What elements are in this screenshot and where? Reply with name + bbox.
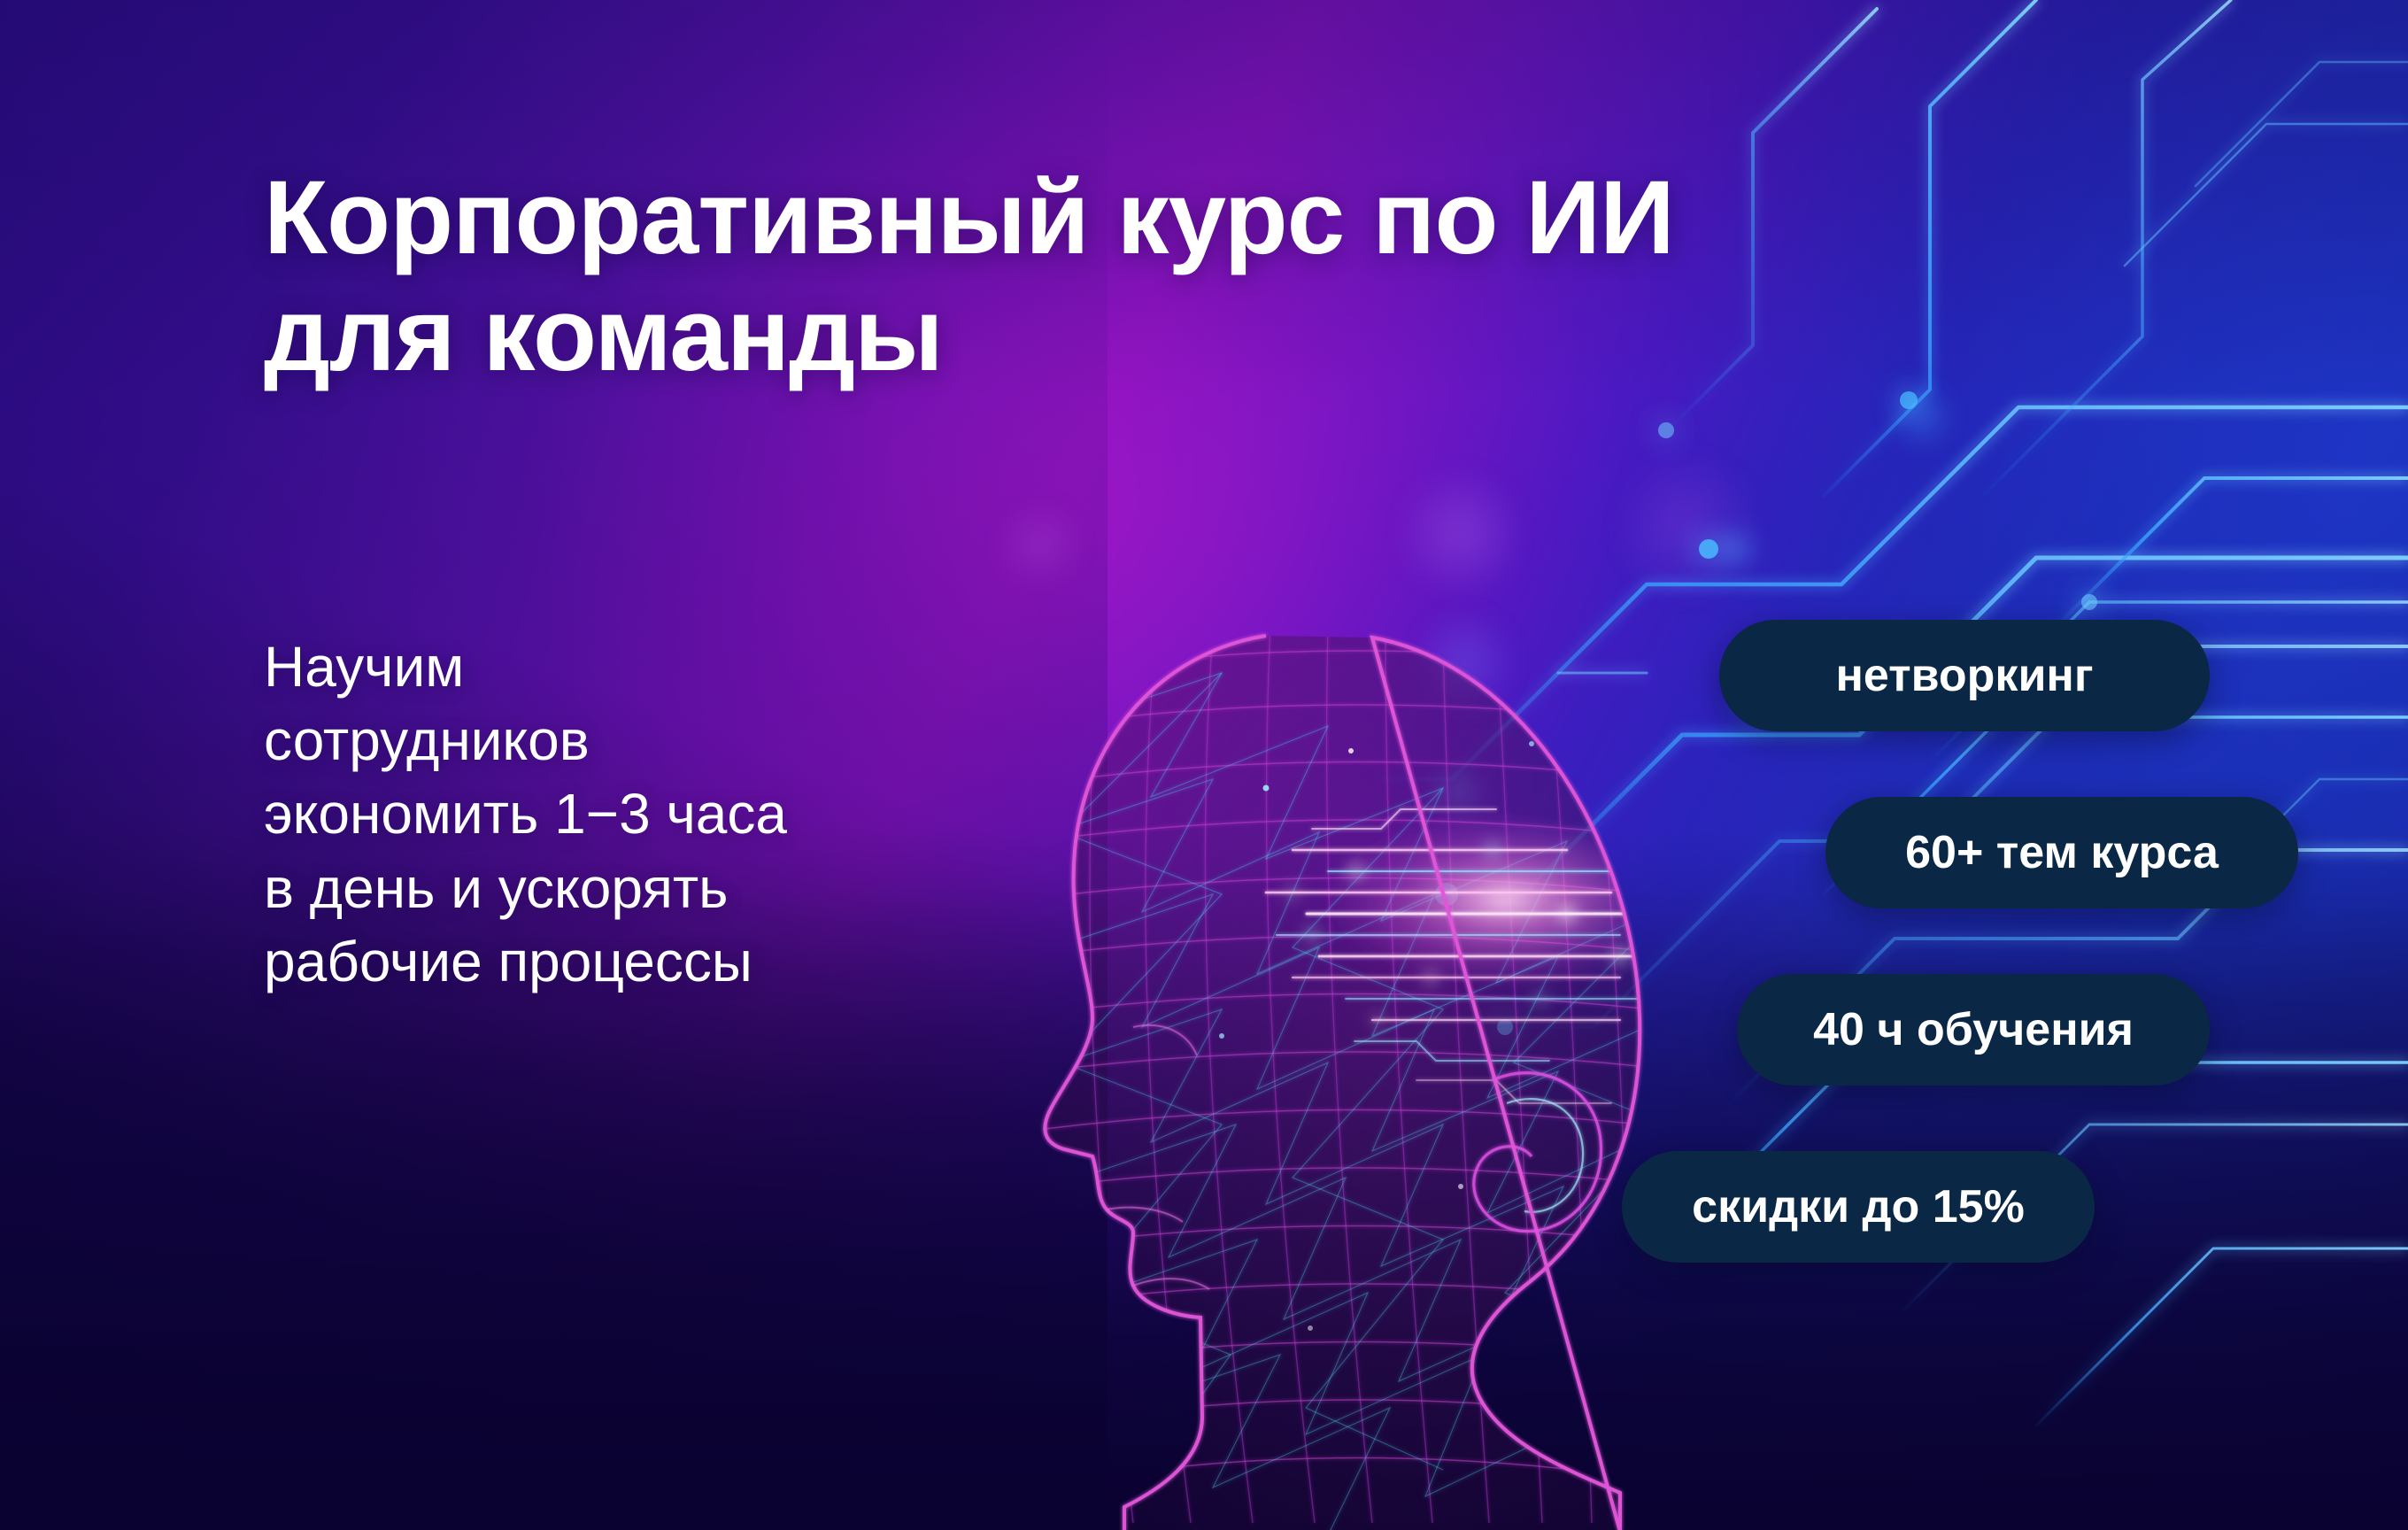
badge-study-hours[interactable]: 40 ч обучения — [1737, 974, 2210, 1086]
subtitle-line-4: в день и ускорять — [264, 852, 1007, 925]
promo-banner: Корпоративный курс по ИИ для команды Нау… — [0, 0, 2408, 1530]
badge-networking[interactable]: нетворкинг — [1719, 620, 2210, 731]
subtitle-line-5: рабочие процессы — [264, 925, 1007, 999]
subtitle-line-2: сотрудников — [264, 704, 1007, 777]
wireframe-head-illustration — [1000, 567, 1726, 1530]
badge-discount[interactable]: скидки до 15% — [1622, 1151, 2095, 1263]
subtitle-line-1: Научим — [264, 630, 1007, 704]
banner-headline: Корпоративный курс по ИИ для команды — [264, 159, 1680, 393]
headline-line-2: для команды — [264, 276, 1680, 393]
headline-line-1: Корпоративный курс по ИИ — [264, 159, 1680, 276]
badge-course-topics[interactable]: 60+ тем курса — [1825, 797, 2298, 908]
subtitle-line-3: экономить 1−3 часа — [264, 777, 1007, 851]
banner-subtitle: Научим сотрудников экономить 1−3 часа в … — [264, 630, 1007, 999]
